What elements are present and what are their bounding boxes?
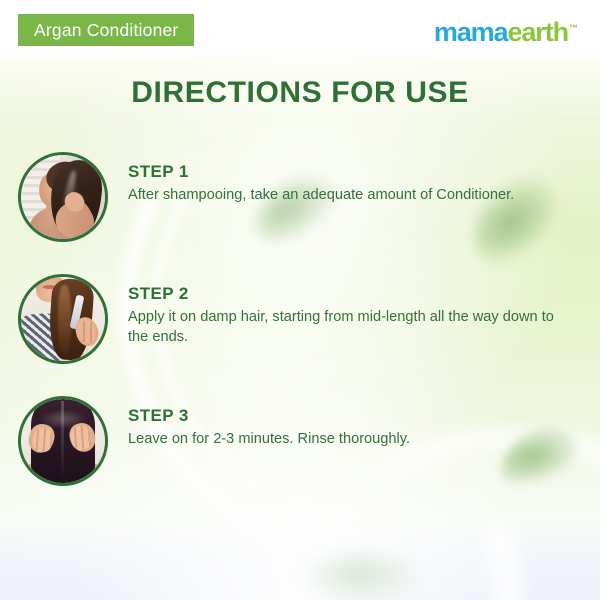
list-item: STEP 1 After shampooing, take an adequat… [0, 140, 600, 242]
step-3-text: STEP 3 Leave on for 2-3 minutes. Rinse t… [108, 384, 586, 450]
product-name-badge: Argan Conditioner [18, 14, 194, 46]
step-2-label: STEP 2 [128, 284, 586, 304]
step-1-label: STEP 1 [128, 162, 586, 182]
step-1-thumbnail [18, 152, 108, 242]
step-1-description: After shampooing, take an adequate amoun… [128, 186, 578, 206]
list-item: STEP 2 Apply it on damp hair, starting f… [0, 262, 600, 364]
list-item: STEP 3 Leave on for 2-3 minutes. Rinse t… [0, 384, 600, 486]
trademark-icon: ™ [569, 23, 578, 33]
poster-canvas: Argan Conditioner mamaearth™ DIRECTIONS … [0, 0, 600, 600]
step-3-photo [21, 399, 105, 483]
mamaearth-logo: mamaearth™ [434, 13, 578, 47]
step-1-photo [21, 155, 105, 239]
logo-text-mama: mama [434, 17, 508, 47]
step-2-photo [21, 277, 105, 361]
step-2-text: STEP 2 Apply it on damp hair, starting f… [108, 262, 586, 347]
step-3-description: Leave on for 2-3 minutes. Rinse thorough… [128, 430, 578, 450]
step-2-description: Apply it on damp hair, starting from mid… [128, 308, 578, 347]
step-3-thumbnail [18, 396, 108, 486]
step-3-label: STEP 3 [128, 406, 586, 426]
steps-list: STEP 1 After shampooing, take an adequat… [0, 140, 600, 506]
logo-text-earth: earth [507, 17, 568, 47]
header-bar: Argan Conditioner mamaearth™ [0, 0, 600, 58]
step-2-thumbnail [18, 274, 108, 364]
step-1-text: STEP 1 After shampooing, take an adequat… [108, 140, 586, 206]
page-title: DIRECTIONS FOR USE [0, 76, 600, 110]
